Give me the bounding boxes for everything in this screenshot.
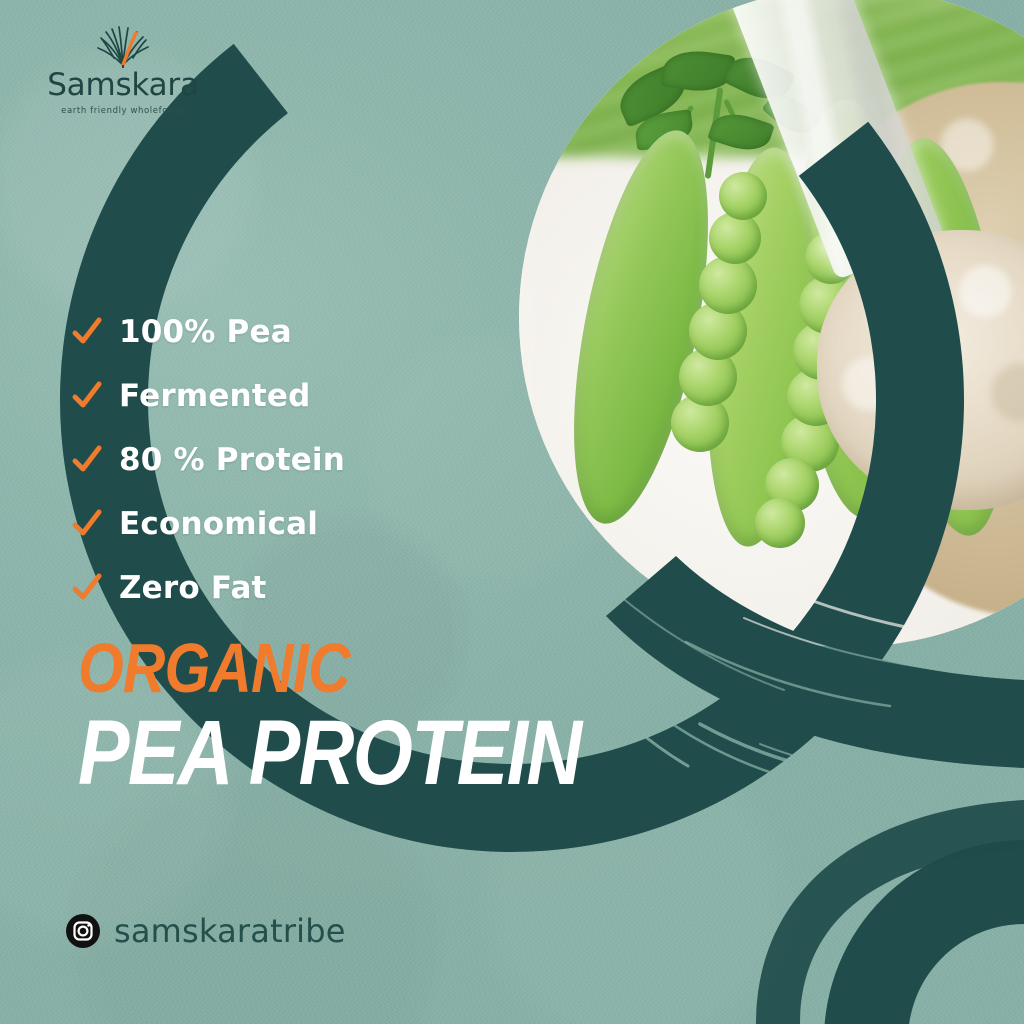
- brand-name: Samskara: [38, 70, 208, 101]
- feature-list: 100% Pea Fermented 80 % Protein Economic…: [72, 300, 492, 620]
- social-handle-text: samskaratribe: [114, 912, 346, 950]
- feature-item: Economical: [72, 492, 492, 556]
- feature-item: Zero Fat: [72, 556, 492, 620]
- poster-canvas: Samskara earth friendly wholefoods 100% …: [0, 0, 1024, 1024]
- feature-label: Zero Fat: [119, 570, 267, 606]
- product-photo: [519, 0, 1024, 647]
- product-photo-circle: [519, 0, 1024, 647]
- check-icon: [72, 509, 102, 539]
- feature-label: Economical: [119, 506, 318, 542]
- check-icon: [72, 445, 102, 475]
- check-icon: [72, 573, 102, 603]
- feature-item: Fermented: [72, 364, 492, 428]
- headline-line-1: ORGANIC: [78, 636, 581, 700]
- feature-label: 80 % Protein: [119, 442, 345, 478]
- headline-line-2: PEA PROTEIN: [78, 708, 581, 798]
- feature-label: 100% Pea: [119, 314, 292, 350]
- feature-item: 80 % Protein: [72, 428, 492, 492]
- brand-logo[interactable]: Samskara earth friendly wholefoods: [38, 24, 208, 116]
- instagram-icon[interactable]: [66, 914, 100, 948]
- social-handle-block[interactable]: samskaratribe: [66, 912, 346, 950]
- feature-item: 100% Pea: [72, 300, 492, 364]
- check-icon: [72, 317, 102, 347]
- fan-leaf-logo-icon: [92, 24, 154, 68]
- check-icon: [72, 381, 102, 411]
- headline-block: ORGANIC PEA PROTEIN: [78, 636, 676, 799]
- feature-label: Fermented: [119, 378, 310, 414]
- brand-tagline: earth friendly wholefoods: [38, 106, 208, 116]
